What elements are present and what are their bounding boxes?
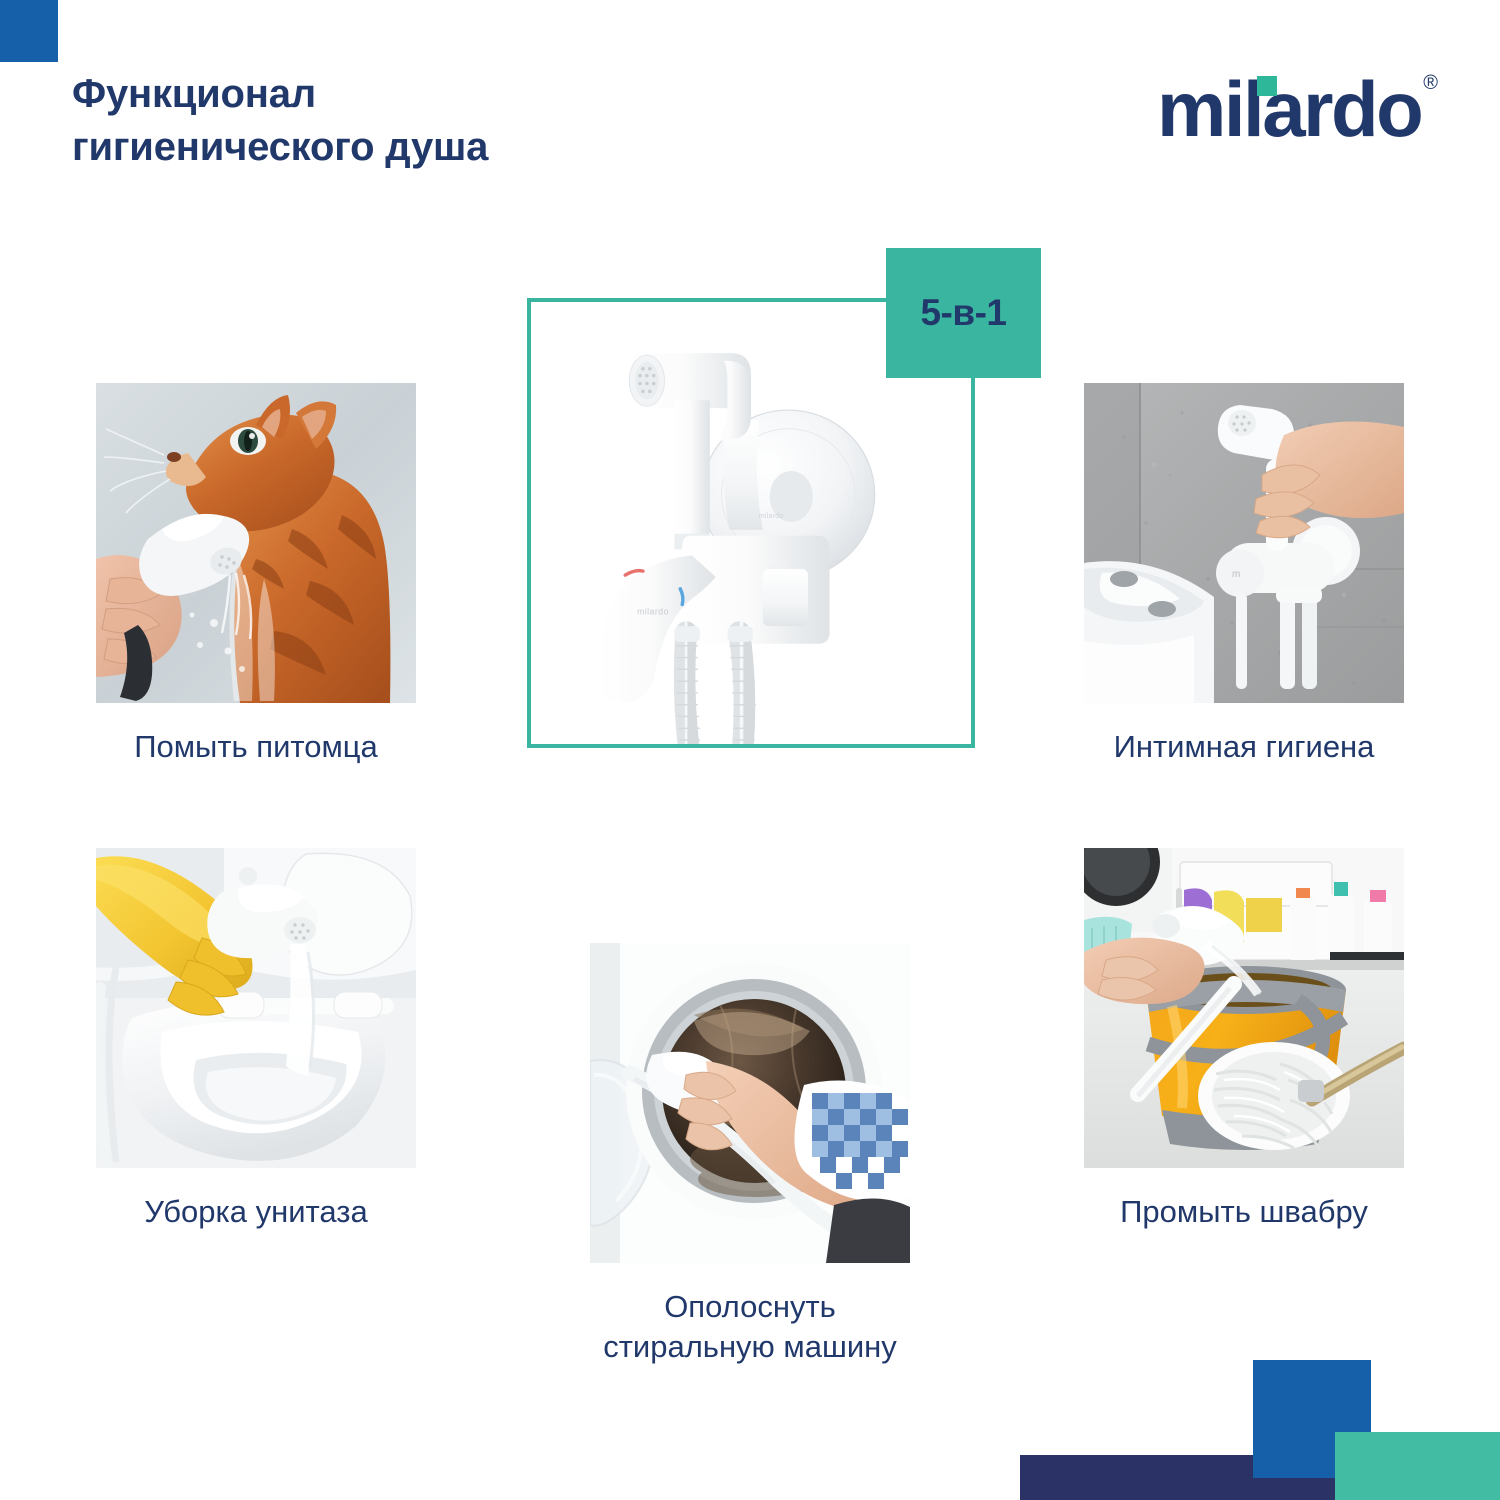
photo-rinsing-mop-in-bucket xyxy=(1084,848,1404,1168)
photo-bidet-sprayer-on-wall: m xyxy=(1084,383,1404,703)
flexible-hose-right xyxy=(729,632,756,742)
brand-logo: milardo ® xyxy=(1157,70,1438,148)
feature-cell-mop: Промыть швабру xyxy=(1084,848,1404,1232)
page-title-line-2: гигиенического душа xyxy=(72,121,712,174)
brand-logo-wordmark: milardo xyxy=(1157,70,1421,148)
badge-label: 5-в-1 xyxy=(920,292,1006,334)
svg-text:m: m xyxy=(1232,569,1240,580)
svg-text:milardo: milardo xyxy=(637,606,669,616)
photo-washing-cat xyxy=(96,383,416,703)
feature-caption-pet: Помыть питомца xyxy=(96,727,416,767)
registered-trademark-icon: ® xyxy=(1423,72,1438,95)
feature-caption-intimate: Интимная гигиена xyxy=(1084,727,1404,767)
feature-caption-washer-line-2: стиральную машину xyxy=(590,1327,910,1367)
feature-cell-pet: Помыть питомца xyxy=(96,383,416,767)
brand-logo-accent-square-icon xyxy=(1257,76,1277,96)
svg-text:milardo: milardo xyxy=(759,513,784,520)
photo-cleaning-toilet xyxy=(96,848,416,1168)
corner-accent-teal-square xyxy=(1335,1432,1500,1500)
photo-rinsing-washing-machine xyxy=(590,943,910,1263)
corner-accent-top-left xyxy=(0,0,58,62)
feature-caption-mop: Промыть швабру xyxy=(1084,1192,1404,1232)
page-title-line-1: Функционал xyxy=(72,68,712,121)
feature-caption-toilet: Уборка унитаза xyxy=(96,1192,416,1232)
feature-caption-washer: Ополоснуть стиральную машину xyxy=(590,1287,910,1368)
infographic-canvas: Функционал гигиенического душа milardo ® xyxy=(0,0,1500,1500)
flexible-hose-left xyxy=(676,632,700,742)
feature-cell-toilet: Уборка унитаза xyxy=(96,848,416,1232)
page-title: Функционал гигиенического душа xyxy=(72,68,712,174)
feature-cell-washer: Ополоснуть стиральную машину xyxy=(590,943,910,1368)
feature-cell-intimate: m xyxy=(1084,383,1404,767)
badge-5-in-1: 5-в-1 xyxy=(886,248,1041,378)
feature-caption-washer-line-1: Ополоснуть xyxy=(590,1287,910,1327)
